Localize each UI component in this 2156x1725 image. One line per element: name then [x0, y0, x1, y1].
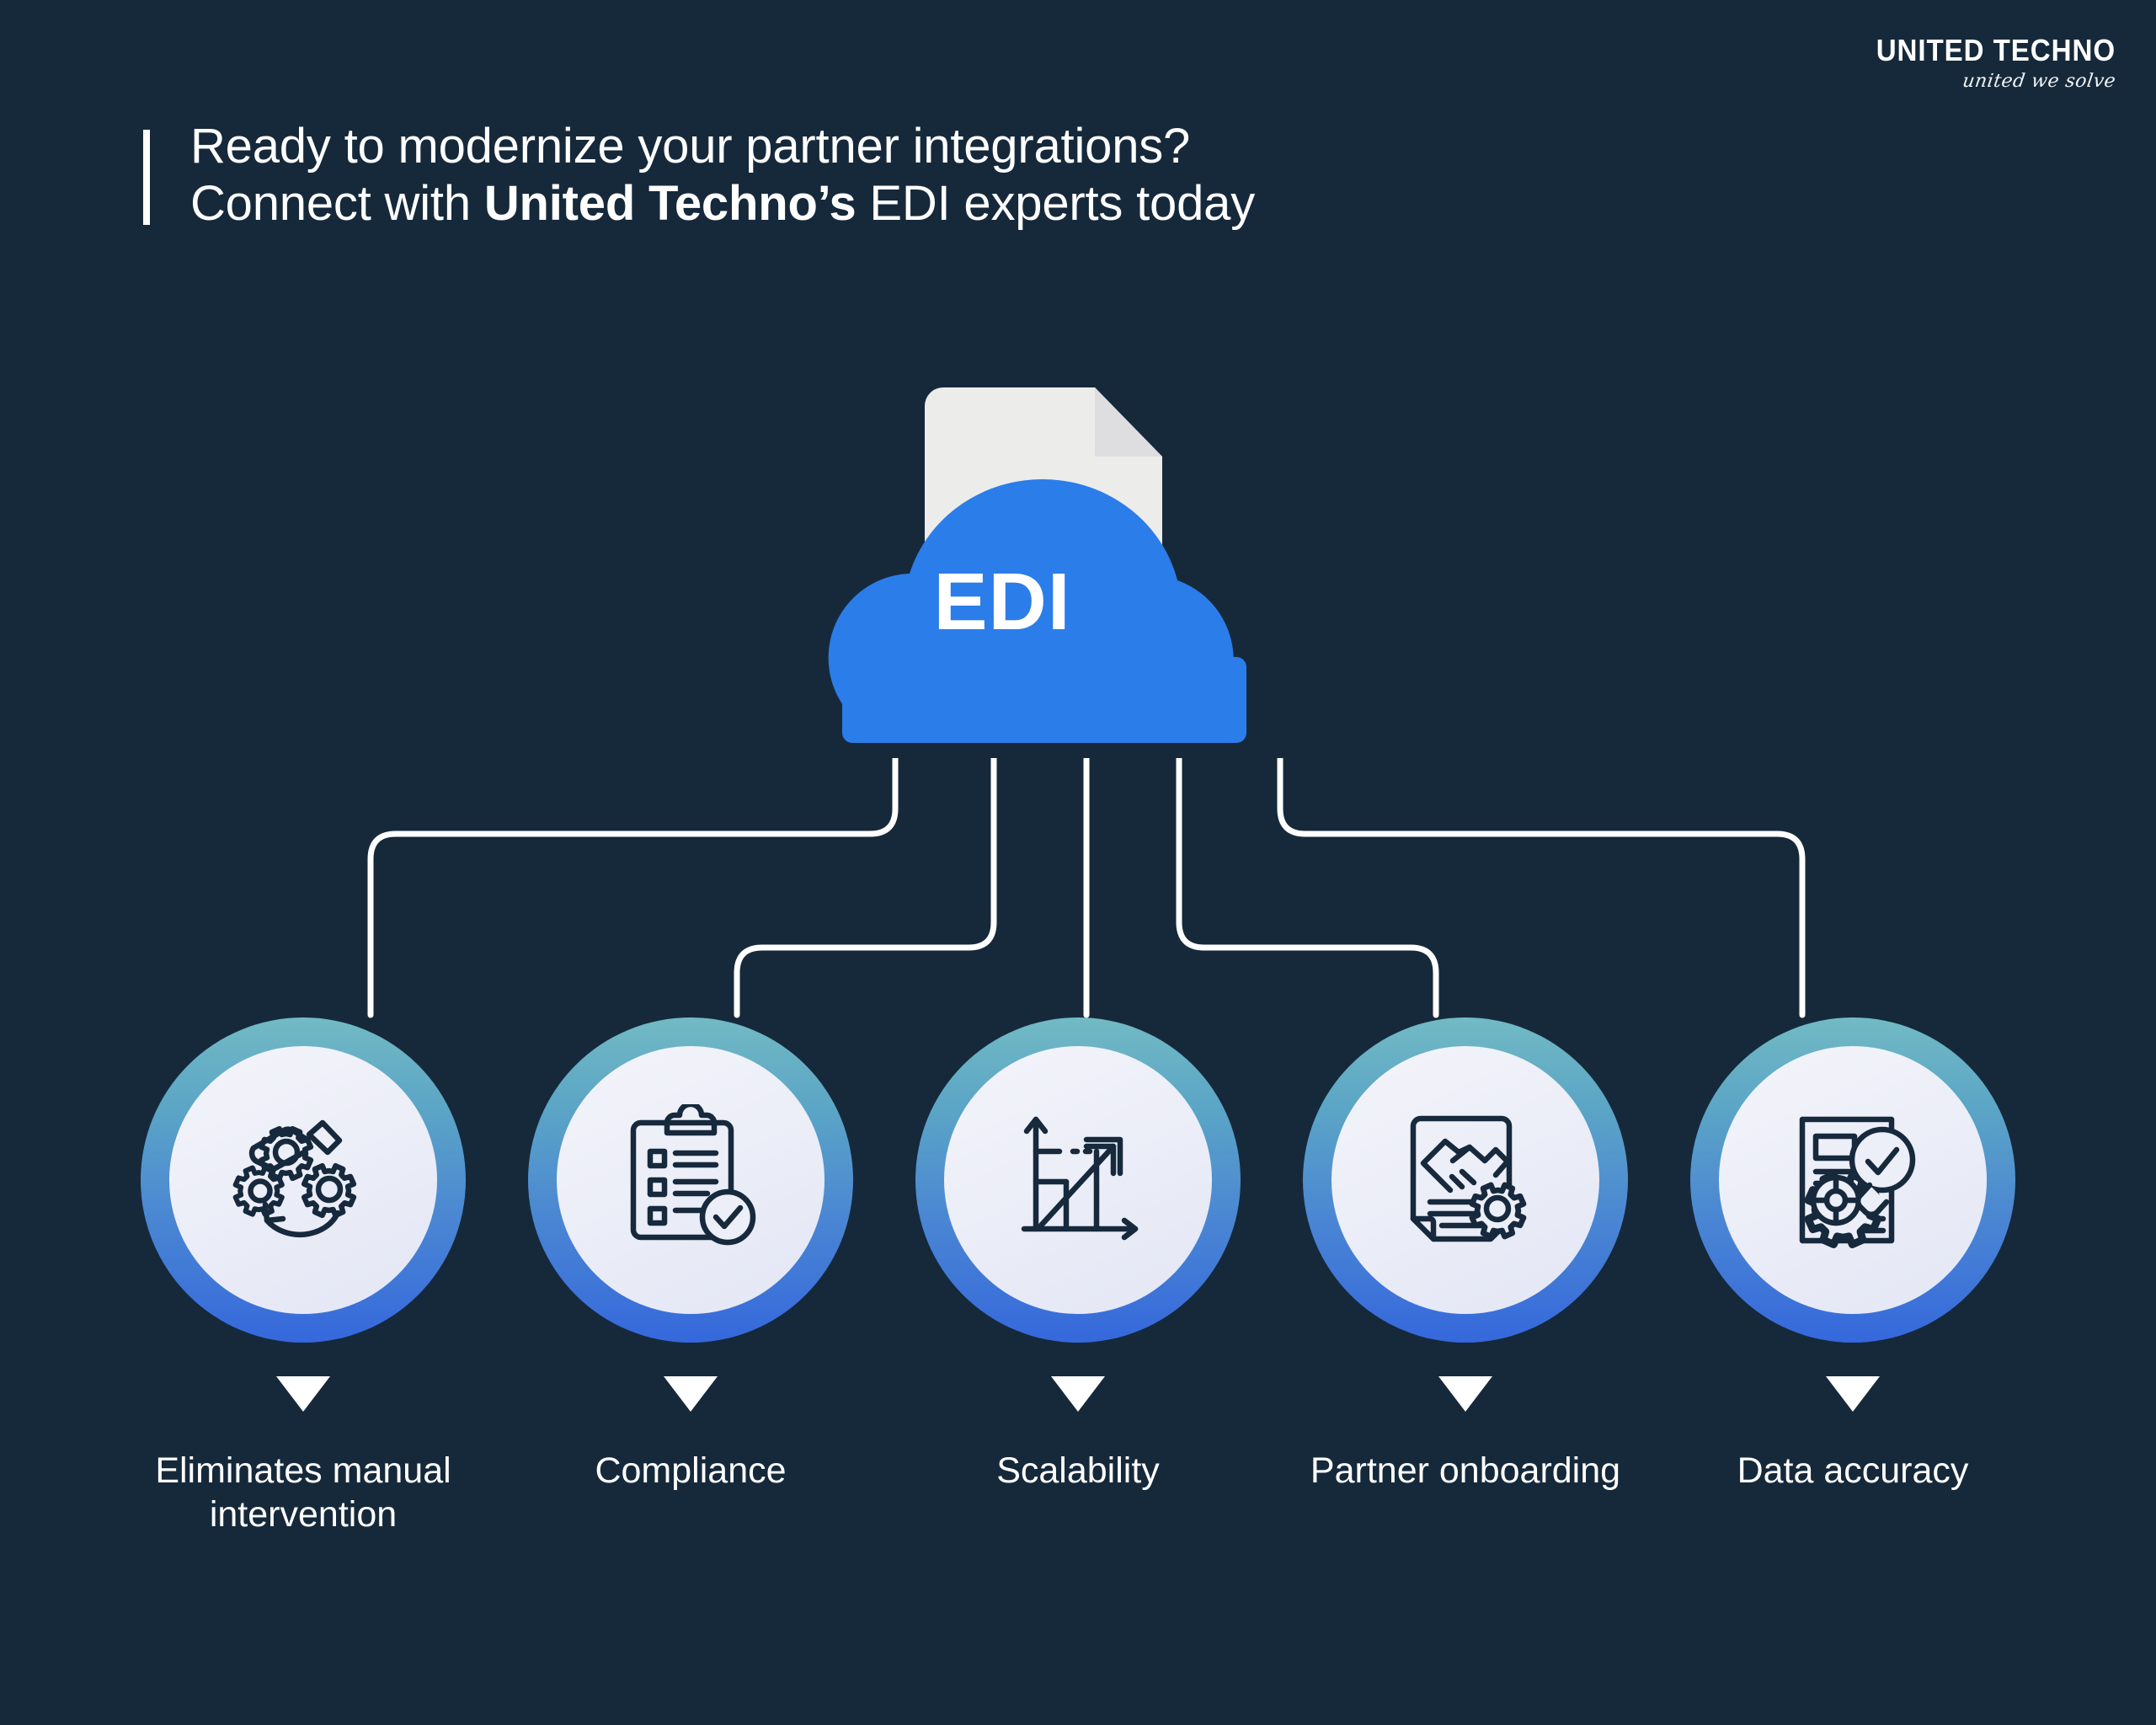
growth-chart-arrow-icon [1002, 1104, 1154, 1256]
headline-line-2: Connect with United Techno’s EDI experts… [190, 175, 1255, 232]
connector-path-4 [1179, 758, 1436, 1015]
handshake-document-gear-icon [1390, 1104, 1541, 1256]
document-gear-magnifier-check-icon [1777, 1104, 1929, 1256]
connector-path-2 [737, 758, 994, 1015]
brand-logo: UNITED TECHNO united we solve [1855, 35, 2116, 91]
node-ring [1303, 1017, 1628, 1343]
headline-line-2-prefix: Connect with [190, 176, 484, 231]
node-ring [528, 1017, 853, 1343]
cloud-icon [829, 479, 1246, 743]
node-label: Scalability [996, 1449, 1160, 1493]
node-ring [1690, 1017, 2015, 1343]
node-label: Eliminates manual intervention [143, 1449, 463, 1537]
node-caret-icon [276, 1376, 330, 1412]
node-ring [915, 1017, 1241, 1343]
node-caret-icon [1051, 1376, 1105, 1412]
node-caret-icon [664, 1376, 718, 1412]
connector-path-5 [1280, 758, 1802, 1015]
infographic-canvas: UNITED TECHNO united we solve Ready to m… [0, 0, 2156, 1725]
node-disc [169, 1046, 437, 1314]
headline-brand-emphasis: United Techno’s [484, 176, 857, 231]
headline-line-2-suffix: EDI experts today [857, 176, 1256, 231]
connector-path-1 [371, 758, 895, 1015]
node-disc [557, 1046, 825, 1314]
logo-tagline: united we solve [1854, 72, 2116, 91]
node-disc [1331, 1046, 1599, 1314]
headline-text: Ready to modernize your partner integrat… [190, 118, 1255, 233]
benefit-node[interactable]: Scalability [901, 1017, 1255, 1537]
hero-svg [741, 379, 1381, 800]
node-caret-icon [1826, 1376, 1880, 1412]
headline-block: Ready to modernize your partner integrat… [143, 118, 1255, 233]
connector-lines [0, 758, 2156, 1061]
headline-accent-bar [143, 130, 150, 225]
node-disc [1719, 1046, 1987, 1314]
gears-hand-automation-icon [223, 1100, 383, 1260]
node-label: Compliance [595, 1449, 786, 1493]
headline-line-1: Ready to modernize your partner integrat… [190, 118, 1255, 175]
node-ring [141, 1017, 466, 1343]
benefit-node[interactable]: Partner onboarding [1289, 1017, 1642, 1537]
node-disc [944, 1046, 1212, 1314]
clipboard-checklist-check-icon [615, 1104, 766, 1256]
benefit-node[interactable]: Compliance [514, 1017, 867, 1537]
logo-wordmark: UNITED TECHNO [1876, 35, 2116, 66]
benefit-node[interactable]: Eliminates manual intervention [126, 1017, 480, 1537]
benefit-node[interactable]: Data accuracy [1676, 1017, 2030, 1537]
node-label: Data accuracy [1737, 1449, 1969, 1493]
edi-hero-graphic: EDI [741, 379, 1381, 800]
node-label: Partner onboarding [1310, 1449, 1620, 1493]
benefit-node-row: Eliminates manual intervention [0, 1017, 2156, 1537]
node-caret-icon [1438, 1376, 1492, 1412]
